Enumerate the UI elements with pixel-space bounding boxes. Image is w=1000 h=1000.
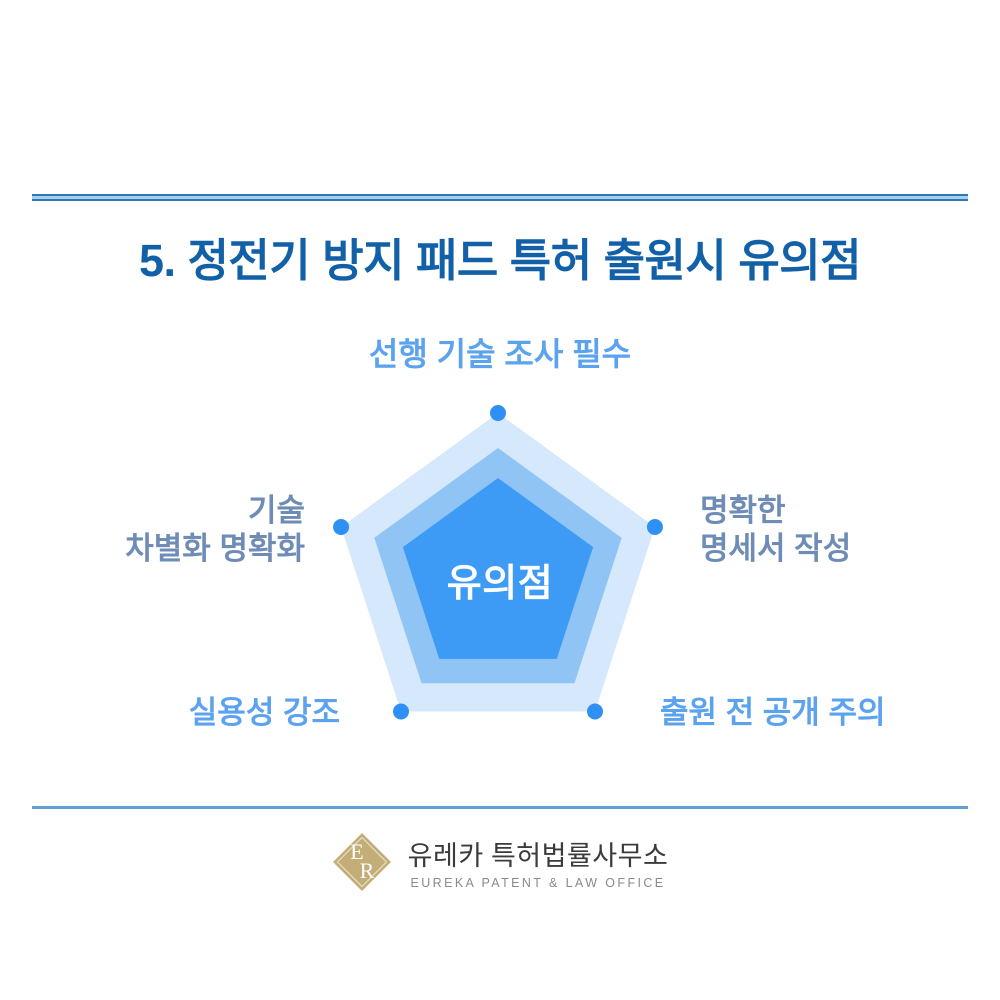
vertex-label-right[interactable]: 명확한 명세서 작성 xyxy=(700,492,965,568)
footer-logo-text: 유레카 특허법률사무소 EUREKA PATENT & LAW OFFICE xyxy=(408,834,669,890)
monogram-letter-r: R xyxy=(359,858,374,883)
vertex-label-left[interactable]: 기술 차별화 명확화 xyxy=(40,492,305,568)
top-divider xyxy=(32,194,968,201)
vertex-label-left-line-1: 기술 xyxy=(40,492,305,530)
firm-name-english: EUREKA PATENT & LAW OFFICE xyxy=(410,876,665,890)
vertex-label-left-line-2: 차별화 명확화 xyxy=(40,530,305,568)
vertex-dot-top[interactable] xyxy=(490,405,506,421)
eureka-diamond-icon: E R xyxy=(332,832,392,892)
top-divider-line-dark-lower xyxy=(32,199,968,201)
vertex-dot-right[interactable] xyxy=(647,519,663,535)
vertex-label-bottom-left-line-1: 실용성 강조 xyxy=(189,695,340,730)
vertex-label-bottom-left[interactable]: 실용성 강조 xyxy=(30,694,340,732)
bottom-divider xyxy=(32,806,968,809)
vertex-label-bottom-right[interactable]: 출원 전 공개 주의 xyxy=(660,694,970,732)
footer-logo: E R 유레카 특허법률사무소 EUREKA PATENT & LAW OFFI… xyxy=(0,832,1000,892)
vertex-dot-bottom-right[interactable] xyxy=(587,704,603,720)
vertex-dot-bottom-left[interactable] xyxy=(393,704,409,720)
slide-canvas: 5. 정전기 방지 패드 특허 출원시 유의점 유의점 선행 기술 조사 필수 … xyxy=(0,0,1000,1000)
vertex-label-top[interactable]: 선행 기술 조사 필수 xyxy=(0,335,1000,374)
vertex-label-top-line-1: 선행 기술 조사 필수 xyxy=(369,336,631,372)
vertex-label-bottom-right-line-1: 출원 전 공개 주의 xyxy=(660,695,885,730)
vertex-label-right-line-2: 명세서 작성 xyxy=(700,530,965,568)
vertex-dot-left[interactable] xyxy=(333,519,349,535)
firm-name-korean: 유레카 특허법률사무소 xyxy=(408,834,669,873)
page-title: 5. 정전기 방지 패드 특허 출원시 유의점 xyxy=(0,224,1000,289)
vertex-label-right-line-1: 명확한 xyxy=(700,492,965,530)
